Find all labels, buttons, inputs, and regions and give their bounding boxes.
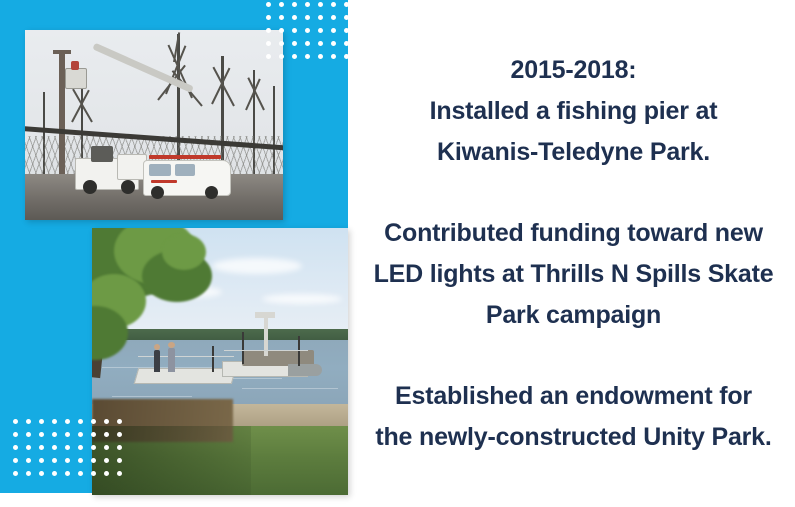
van-roof-rack bbox=[149, 155, 221, 159]
pattern-dot bbox=[65, 471, 70, 476]
paragraph-endowment: Established an endowment for the newly-c… bbox=[358, 376, 789, 458]
pattern-dot bbox=[279, 15, 284, 20]
pier-piling bbox=[212, 346, 214, 372]
pattern-dot bbox=[266, 2, 271, 7]
floating-pier-deck bbox=[134, 368, 237, 384]
pattern-dot bbox=[344, 28, 349, 33]
utility-worker bbox=[71, 61, 79, 70]
pattern-dot bbox=[26, 445, 31, 450]
pattern-dot bbox=[26, 471, 31, 476]
pattern-dot bbox=[344, 15, 349, 20]
barge-hull bbox=[288, 364, 322, 376]
pier-piling bbox=[298, 336, 300, 366]
pattern-dot bbox=[292, 2, 297, 7]
text-line: Kiwanis-Teledyne Park. bbox=[358, 132, 789, 173]
pattern-dot bbox=[305, 28, 310, 33]
pattern-dot bbox=[52, 458, 57, 463]
pattern-dot bbox=[13, 445, 18, 450]
pattern-dot bbox=[65, 432, 70, 437]
pier-worker-head bbox=[154, 344, 160, 350]
pattern-dot bbox=[13, 419, 18, 424]
pattern-dot bbox=[26, 419, 31, 424]
pattern-dot bbox=[318, 41, 323, 46]
cloud bbox=[212, 258, 302, 274]
pattern-dot bbox=[52, 419, 57, 424]
utility-bucket-truck-photo bbox=[25, 30, 283, 220]
pier-piling bbox=[242, 332, 244, 364]
pattern-dot bbox=[266, 54, 271, 59]
pattern-dot bbox=[318, 15, 323, 20]
pattern-dot bbox=[331, 28, 336, 33]
pattern-dot bbox=[279, 41, 284, 46]
pattern-dot bbox=[78, 432, 83, 437]
van-wheel bbox=[205, 186, 218, 199]
pattern-dot bbox=[305, 54, 310, 59]
text-line: Contributed funding toward new bbox=[358, 213, 789, 254]
text-line: Established an endowment for bbox=[358, 376, 789, 417]
text-line: Installed a fishing pier at bbox=[358, 91, 789, 132]
water-ripple bbox=[242, 388, 338, 389]
dot-pattern-bottom-left bbox=[13, 419, 122, 476]
pattern-dot bbox=[117, 432, 122, 437]
pattern-dot bbox=[292, 41, 297, 46]
pattern-dot bbox=[279, 2, 284, 7]
pattern-dot bbox=[13, 432, 18, 437]
pier-handrail bbox=[138, 356, 234, 357]
text-line: Park campaign bbox=[358, 295, 789, 336]
pattern-dot bbox=[91, 445, 96, 450]
pattern-dot bbox=[117, 419, 122, 424]
pattern-dot bbox=[65, 419, 70, 424]
pattern-dot bbox=[39, 458, 44, 463]
text-line: 2015-2018: bbox=[358, 50, 789, 91]
pattern-dot bbox=[279, 28, 284, 33]
pattern-dot bbox=[39, 419, 44, 424]
pattern-dot bbox=[344, 2, 349, 7]
pattern-dot bbox=[344, 41, 349, 46]
pattern-dot bbox=[331, 54, 336, 59]
water-ripple bbox=[112, 396, 192, 397]
crane-head bbox=[255, 312, 275, 318]
pattern-dot bbox=[39, 432, 44, 437]
pattern-dot bbox=[104, 471, 109, 476]
pier-worker-head bbox=[168, 342, 175, 348]
pattern-dot bbox=[39, 445, 44, 450]
pier-handrail bbox=[224, 350, 308, 351]
paragraph-timeline-heading: 2015-2018: Installed a fishing pier at K… bbox=[358, 50, 789, 173]
pattern-dot bbox=[266, 28, 271, 33]
pattern-dot bbox=[91, 419, 96, 424]
pattern-dot bbox=[52, 432, 57, 437]
cloud bbox=[262, 294, 342, 304]
pattern-dot bbox=[65, 458, 70, 463]
pier-worker bbox=[168, 348, 175, 372]
pattern-dot bbox=[104, 445, 109, 450]
pattern-dot bbox=[13, 458, 18, 463]
pattern-dot bbox=[266, 15, 271, 20]
pattern-dot bbox=[318, 2, 323, 7]
pattern-dot bbox=[91, 432, 96, 437]
pattern-dot bbox=[52, 445, 57, 450]
van-window bbox=[175, 164, 195, 176]
photo-top-content bbox=[25, 30, 283, 220]
aerial-bucket bbox=[65, 68, 87, 89]
pattern-dot bbox=[318, 28, 323, 33]
pattern-dot bbox=[305, 15, 310, 20]
pattern-dot bbox=[117, 458, 122, 463]
pattern-dot bbox=[78, 458, 83, 463]
pattern-dot bbox=[331, 2, 336, 7]
pattern-dot bbox=[266, 41, 271, 46]
truck-wheel bbox=[121, 180, 135, 194]
paragraph-led-lights: Contributed funding toward new LED light… bbox=[358, 213, 789, 336]
van-decal-stripe bbox=[151, 180, 177, 183]
van-wheel bbox=[151, 186, 164, 199]
pattern-dot bbox=[104, 419, 109, 424]
text-line: the newly-constructed Unity Park. bbox=[358, 417, 789, 458]
pattern-dot bbox=[104, 432, 109, 437]
pattern-dot bbox=[292, 54, 297, 59]
truck-boom-mount bbox=[91, 146, 113, 162]
pattern-dot bbox=[78, 445, 83, 450]
pattern-dot bbox=[26, 432, 31, 437]
pattern-dot bbox=[117, 471, 122, 476]
pattern-dot bbox=[331, 41, 336, 46]
pattern-dot bbox=[78, 471, 83, 476]
van-window bbox=[149, 164, 171, 176]
pattern-dot bbox=[65, 445, 70, 450]
pattern-dot bbox=[91, 471, 96, 476]
slide-canvas: 2015-2018: Installed a fishing pier at K… bbox=[0, 0, 795, 507]
pattern-dot bbox=[279, 54, 284, 59]
pattern-dot bbox=[78, 419, 83, 424]
pattern-dot bbox=[117, 445, 122, 450]
pattern-dot bbox=[104, 458, 109, 463]
pattern-dot bbox=[331, 15, 336, 20]
pattern-dot bbox=[292, 28, 297, 33]
text-column: 2015-2018: Installed a fishing pier at K… bbox=[352, 0, 795, 507]
pattern-dot bbox=[305, 2, 310, 7]
pattern-dot bbox=[305, 41, 310, 46]
pattern-dot bbox=[318, 54, 323, 59]
pattern-dot bbox=[91, 458, 96, 463]
pattern-dot bbox=[292, 15, 297, 20]
pattern-dot bbox=[26, 458, 31, 463]
tree-canopy-highlight bbox=[162, 234, 206, 270]
pole-crossarm bbox=[53, 50, 71, 54]
photo-bottom-content bbox=[92, 228, 348, 495]
pattern-dot bbox=[39, 471, 44, 476]
truck-wheel bbox=[83, 180, 97, 194]
fishing-pier-lake-photo bbox=[92, 228, 348, 495]
text-line: LED lights at Thrills N Spills Skate bbox=[358, 254, 789, 295]
pier-worker bbox=[154, 350, 160, 372]
pattern-dot bbox=[52, 471, 57, 476]
pattern-dot bbox=[13, 471, 18, 476]
pattern-dot bbox=[344, 54, 349, 59]
